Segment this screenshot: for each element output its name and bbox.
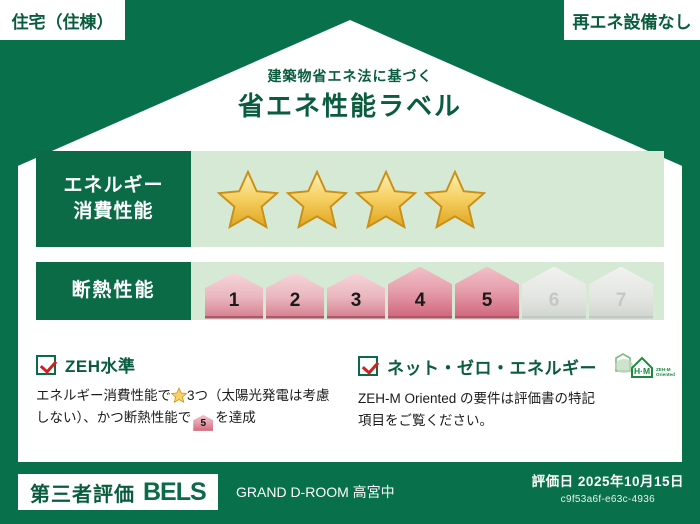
zeh-standard-header: ZEH水準 [36,352,336,377]
insulation-grade-6: 6 [522,267,586,316]
zeh-body-star-count: 3つ（太陽光発電 [187,388,289,403]
energy-performance-label: エネルギー 消費性能 [36,151,191,247]
zeh-body-part1: エネルギー消費性能で [36,388,171,403]
bels-certification-plate: 第三者評価 BELS [18,474,218,510]
net-zero-body-line1: ZEH-M Oriented の要件は評価書の特記 [358,388,658,410]
zeh-standard-note: ZEH水準 エネルギー消費性能で3つ（太陽光発電は考慮しない）、かつ断熱性能で5… [36,352,336,431]
label-header: 建築物省エネ法に基づく 省エネ性能ラベル [0,68,700,122]
zeh-standard-body: エネルギー消費性能で3つ（太陽光発電は考慮しない）、かつ断熱性能で5を達成 [36,385,336,431]
house-badge-icon: 5 [193,415,213,431]
star-rating [191,169,486,229]
house-badge-number: 5 [193,415,213,433]
grade-number: 7 [616,290,627,312]
net-zero-header: ネット・ゼロ・エネルギー H·M ZEH-M Oriented [358,352,658,380]
energy-performance-row: エネルギー 消費性能 [36,151,664,247]
third-party-evaluation-label: 第三者評価 [30,478,135,507]
insulation-label-text: 断熱性能 [71,280,155,303]
checkmark-icon [36,355,56,375]
grade-number: 6 [549,290,560,312]
tag-renewable-equipment: 再エネ設備なし [562,0,700,42]
net-zero-energy-note: ネット・ゼロ・エネルギー H·M ZEH-M Oriented ZEH-M Or… [358,352,658,432]
net-zero-title: ネット・ゼロ・エネルギー [387,354,597,379]
zeh-m-oriented-logo-icon: H·M ZEH-M Oriented [612,352,678,380]
evaluation-date: 評価日 2025年10月15日 [532,470,684,490]
insulation-grade-7: 7 [589,267,653,316]
insulation-grade-1: 1 [205,273,263,316]
insulation-performance-value: 1 2 3 4 5 [191,262,664,320]
energy-performance-value [191,151,664,247]
insulation-grade-scale: 1 2 3 4 5 [191,267,653,316]
grade-number: 1 [229,290,240,312]
grade-number: 3 [351,290,362,312]
project-name: GRAND D-ROOM 高宮中 [236,474,395,510]
zeh-body-part3: を達成 [215,410,256,425]
grade-number: 4 [415,290,426,312]
label-footer: 第三者評価 BELS GRAND D-ROOM 高宮中 評価日 2025年10月… [0,462,700,524]
svg-text:H·M: H·M [634,366,650,376]
energy-label-line2: 消費性能 [73,199,153,225]
energy-performance-label: 住宅（住棟） 再エネ設備なし 建築物省エネ法に基づく 省エネ性能ラベル エネルギ… [0,0,700,524]
svg-text:Oriented: Oriented [656,372,675,377]
star-icon [424,169,486,229]
star-icon [355,169,417,229]
grade-number: 2 [290,290,301,312]
bels-logo-text: BELS [143,478,206,507]
insulation-performance-row: 断熱性能 1 2 3 4 [36,262,664,320]
insulation-performance-label: 断熱性能 [36,262,191,320]
star-icon [171,387,187,403]
insulation-grade-3: 3 [327,273,385,316]
star-icon [217,169,279,229]
energy-label-line1: エネルギー [63,173,163,199]
insulation-grade-2: 2 [266,273,324,316]
evaluation-id: c9f53a6f-e63c-4936 [532,494,684,505]
page-title: 省エネ性能ラベル [0,91,700,122]
star-icon [286,169,348,229]
zeh-standard-title: ZEH水準 [65,352,136,377]
checkmark-icon [358,356,378,376]
insulation-grade-5: 5 [455,267,519,316]
header-subtitle: 建築物省エネ法に基づく [0,68,700,85]
insulation-grade-4: 4 [388,267,452,316]
evaluation-meta: 評価日 2025年10月15日 c9f53a6f-e63c-4936 [532,470,684,505]
tag-building-type: 住宅（住棟） [0,0,127,42]
grade-number: 5 [482,290,493,312]
net-zero-body: ZEH-M Oriented の要件は評価書の特記 項目をご覧ください。 [358,388,658,432]
net-zero-body-line2: 項目をご覧ください。 [358,410,658,432]
